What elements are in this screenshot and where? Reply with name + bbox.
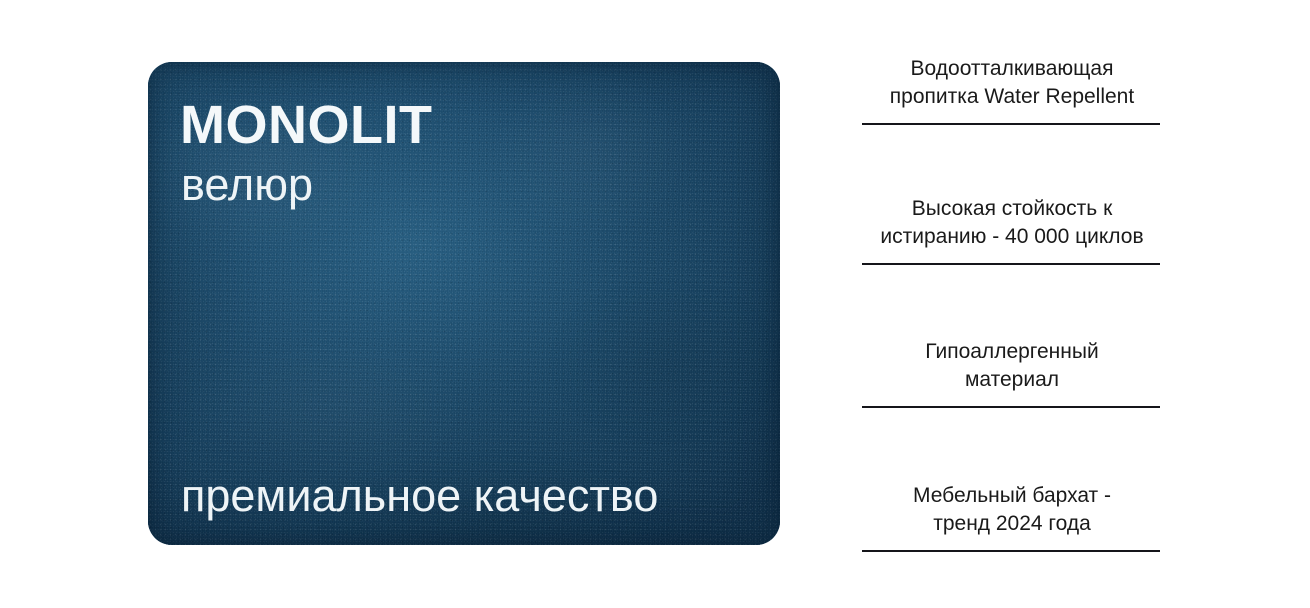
feature-divider	[862, 123, 1160, 125]
feature-divider	[862, 406, 1160, 408]
feature-text: Мебельный бархат - тренд 2024 года	[862, 482, 1162, 537]
feature-item-abrasion-resistance: Высокая стойкость к истиранию - 40 000 ц…	[862, 195, 1162, 265]
feature-item-water-repellent: Водоотталкивающая пропитка Water Repelle…	[862, 55, 1162, 125]
feature-text: Гипоаллергенный материал	[862, 338, 1162, 393]
feature-text: Высокая стойкость к истиранию - 40 000 ц…	[862, 195, 1162, 250]
material-name: велюр	[181, 162, 313, 207]
quality-tagline: премиальное качество	[181, 473, 658, 518]
feature-text: Водоотталкивающая пропитка Water Repelle…	[862, 55, 1162, 110]
feature-divider	[862, 550, 1160, 552]
fabric-swatch: MONOLIT велюр премиальное качество	[148, 62, 780, 545]
feature-item-trend-2024: Мебельный бархат - тренд 2024 года	[862, 482, 1162, 552]
brand-name: MONOLIT	[180, 98, 432, 152]
product-card: MONOLIT велюр премиальное качество Водоо…	[0, 0, 1310, 608]
feature-item-hypoallergenic: Гипоаллергенный материал	[862, 338, 1162, 408]
swatch-text-layer: MONOLIT велюр премиальное качество	[148, 62, 780, 545]
feature-divider	[862, 263, 1160, 265]
